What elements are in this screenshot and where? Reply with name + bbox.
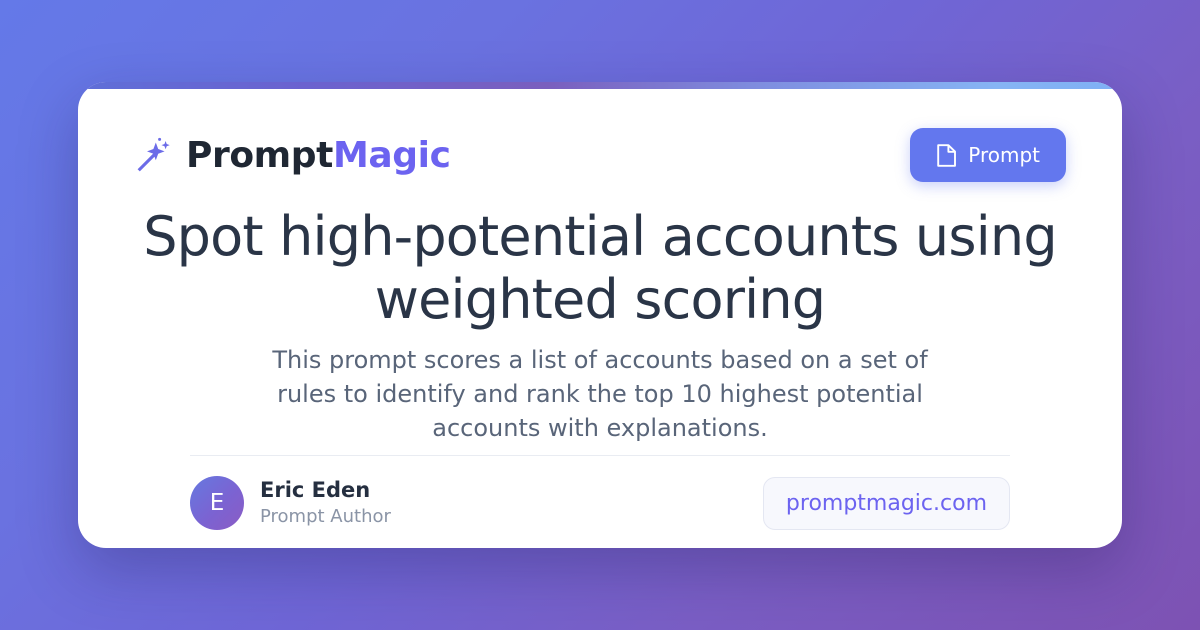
file-document-icon: [936, 144, 957, 167]
card-body: Spot high-potential accounts using weigh…: [134, 182, 1066, 548]
brand-name-secondary: Magic: [333, 135, 451, 176]
brand-logo[interactable]: PromptMagic: [134, 135, 451, 176]
footer-divider: [190, 455, 1010, 456]
author-role: Prompt Author: [260, 505, 391, 529]
brand-name-primary: Prompt: [186, 135, 333, 176]
prompt-button[interactable]: Prompt: [910, 128, 1066, 182]
magic-wand-icon: [134, 136, 172, 174]
prompt-preview-card: PromptMagic Prompt Spot high-potential a…: [78, 82, 1122, 548]
page-title: Spot high-potential accounts using weigh…: [135, 206, 1065, 331]
brand-wordmark: PromptMagic: [186, 135, 451, 176]
site-url-badge[interactable]: promptmagic.com: [763, 477, 1010, 530]
card-header: PromptMagic Prompt: [134, 128, 1066, 182]
page-description: This prompt scores a list of accounts ba…: [240, 343, 960, 411]
author-name: Eric Eden: [260, 477, 391, 504]
accent-gradient-bar: [78, 82, 1122, 89]
prompt-button-label: Prompt: [968, 143, 1040, 167]
author-details: Eric Eden Prompt Author: [260, 477, 391, 529]
card-footer: E Eric Eden Prompt Author promptmagic.co…: [190, 472, 1010, 534]
avatar: E: [190, 476, 244, 530]
author-block: E Eric Eden Prompt Author: [190, 476, 391, 530]
